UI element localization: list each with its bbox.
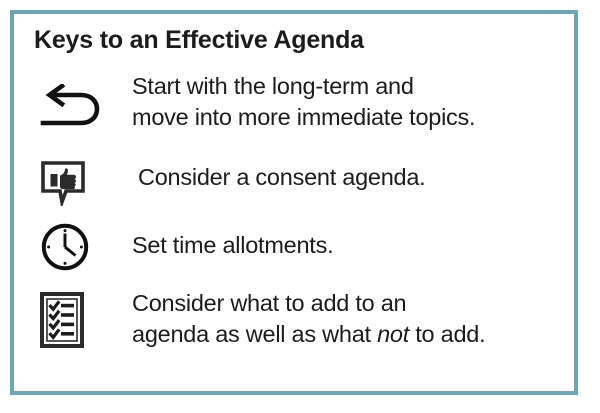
list-item-line-2-before: agenda as well as what <box>132 321 377 347</box>
list-item-line-1: Set time allotments. <box>132 232 333 258</box>
list-item: Start with the long-term and move into m… <box>14 70 574 154</box>
checklist-icon <box>36 282 132 368</box>
clock-icon <box>36 216 132 278</box>
list-item: Set time allotments. <box>14 216 574 282</box>
list-item-line-2-after: to add. <box>409 321 485 347</box>
list-item-line-1: Start with the long-term and <box>132 73 414 99</box>
list-item-text: Consider what to add to an agenda as wel… <box>132 282 574 350</box>
undo-arrow-icon <box>36 70 132 154</box>
tips-list: Start with the long-term and move into m… <box>14 70 574 366</box>
list-item-emphasis: not <box>377 321 409 347</box>
list-item-text: Start with the long-term and move into m… <box>132 70 574 133</box>
list-item-text: Set time allotments. <box>132 216 574 261</box>
list-item-text: Consider a consent agenda. <box>132 154 574 193</box>
list-item-line-1: Consider what to add to an <box>132 290 406 316</box>
list-item: Consider what to add to an agenda as wel… <box>14 282 574 366</box>
keys-to-effective-agenda-card: Keys to an Effective Agenda Start with t… <box>10 10 578 395</box>
list-item-line-2: move into more immediate topics. <box>132 104 475 130</box>
list-item-line-1: Consider a consent agenda. <box>138 164 425 190</box>
list-item: Consider a consent agenda. <box>14 154 574 216</box>
thumbs-up-speech-bubble-icon <box>36 154 132 212</box>
page-title: Keys to an Effective Agenda <box>34 26 364 55</box>
